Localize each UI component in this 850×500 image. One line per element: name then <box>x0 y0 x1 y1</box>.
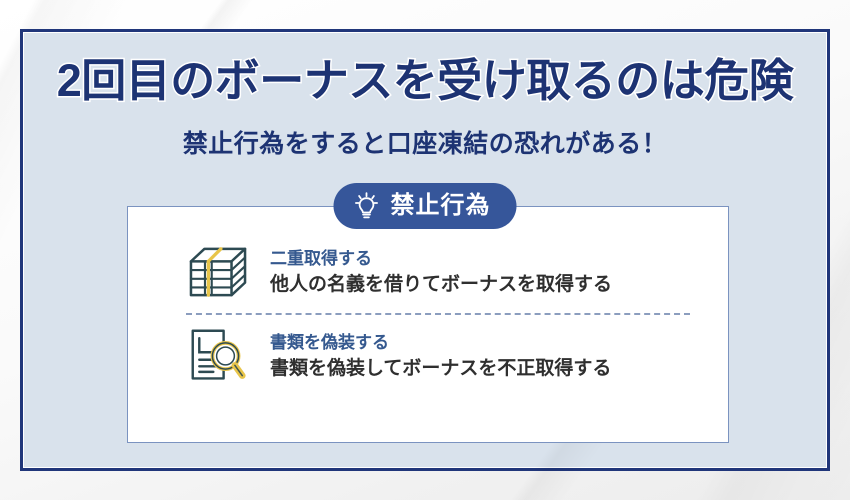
infographic-canvas: 2回目のボーナスを受け取るのは危険 禁止行為をすると口座凍結の恐れがある！ 禁止… <box>0 0 850 500</box>
main-panel: 2回目のボーナスを受け取るのは危険 禁止行為をすると口座凍結の恐れがある！ 禁止… <box>20 29 830 471</box>
list-item-heading: 二重取得する <box>270 248 686 269</box>
list-item-description: 他人の名義を借りてボーナスを取得する <box>270 273 686 297</box>
list-item-description: 書類を偽装してボーナスを不正取得する <box>270 357 686 381</box>
list-item-heading: 書類を偽装する <box>270 332 686 353</box>
cash-stack-icon <box>186 240 250 304</box>
list-item-text: 二重取得する 他人の名義を借りてボーナスを取得する <box>270 248 686 297</box>
page-subtitle: 禁止行為をすると口座凍結の恐れがある！ <box>23 132 827 157</box>
list-item: 二重取得する 他人の名義を借りてボーナスを取得する <box>128 233 728 311</box>
badge-label: 禁止行為 <box>391 194 491 218</box>
prohibited-acts-list: 二重取得する 他人の名義を借りてボーナスを取得する <box>128 233 728 395</box>
prohibited-acts-card: 二重取得する 他人の名義を借りてボーナスを取得する <box>127 206 729 443</box>
list-divider <box>186 313 690 315</box>
list-item-text: 書類を偽装する 書類を偽装してボーナスを不正取得する <box>270 332 686 381</box>
lightbulb-icon <box>354 192 380 220</box>
prohibited-acts-badge: 禁止行為 <box>334 183 517 229</box>
page-title: 2回目のボーナスを受け取るのは危険 <box>23 58 827 103</box>
list-item: 書類を偽装する 書類を偽装してボーナスを不正取得する <box>128 317 728 395</box>
document-search-icon <box>186 324 250 388</box>
